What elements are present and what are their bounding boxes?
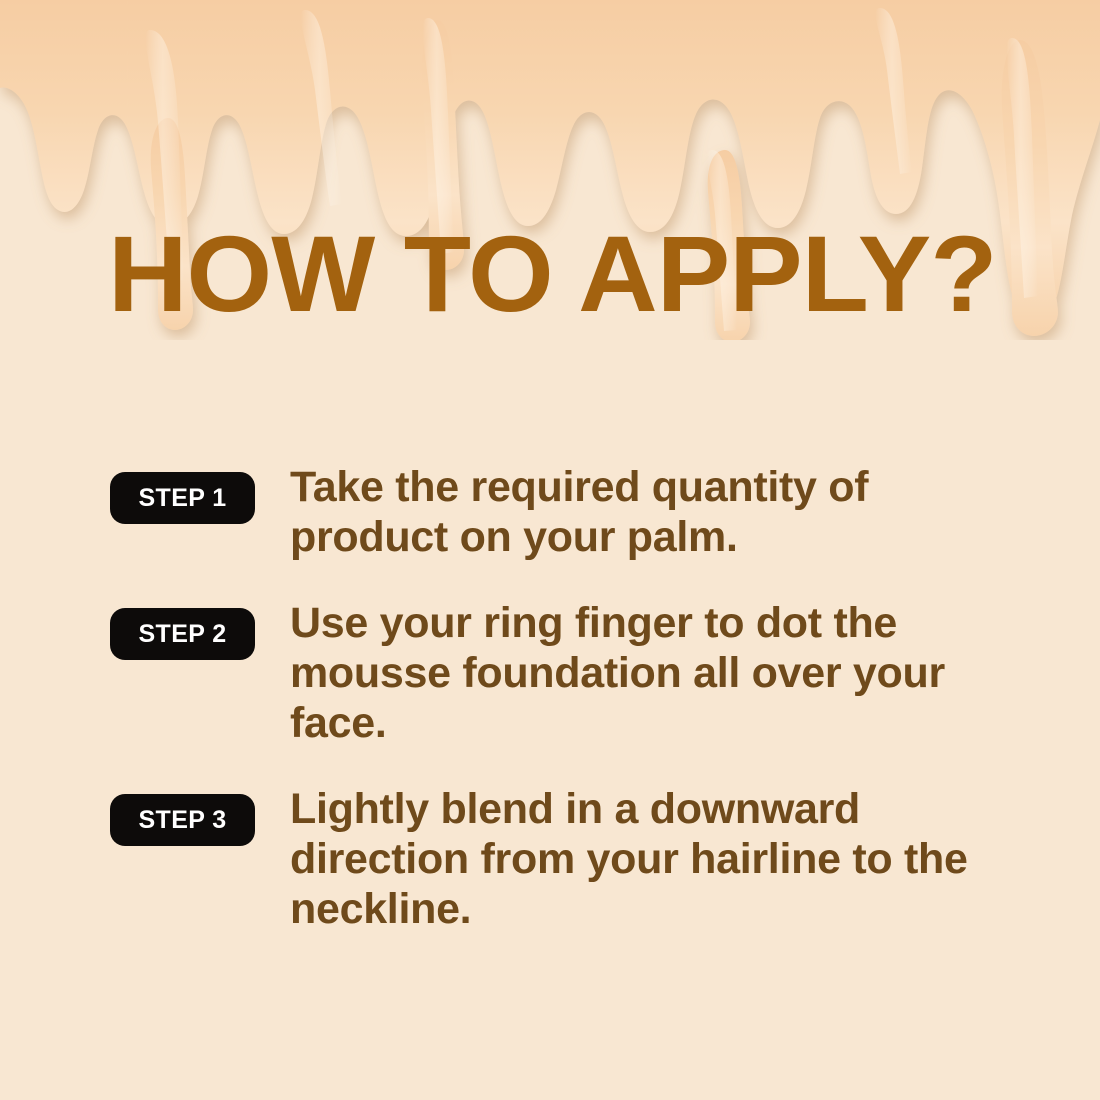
step-text-1: Take the required quantity of product on… xyxy=(290,462,930,562)
steps-list: STEP 1 Take the required quantity of pro… xyxy=(110,462,1050,934)
step-item-3: STEP 3 Lightly blend in a downward direc… xyxy=(110,784,1050,934)
step-badge-2: STEP 2 xyxy=(110,608,255,660)
step-text-3: Lightly blend in a downward direction fr… xyxy=(290,784,1020,934)
step-item-2: STEP 2 Use your ring finger to dot the m… xyxy=(110,598,1050,748)
step-badge-3: STEP 3 xyxy=(110,794,255,846)
step-item-1: STEP 1 Take the required quantity of pro… xyxy=(110,462,1050,562)
step-badge-1: STEP 1 xyxy=(110,472,255,524)
step-text-2: Use your ring finger to dot the mousse f… xyxy=(290,598,1000,748)
page-title: HOW TO APPLY? xyxy=(108,222,997,326)
how-to-apply-poster: HOW TO APPLY? STEP 1 Take the required q… xyxy=(0,0,1100,1100)
